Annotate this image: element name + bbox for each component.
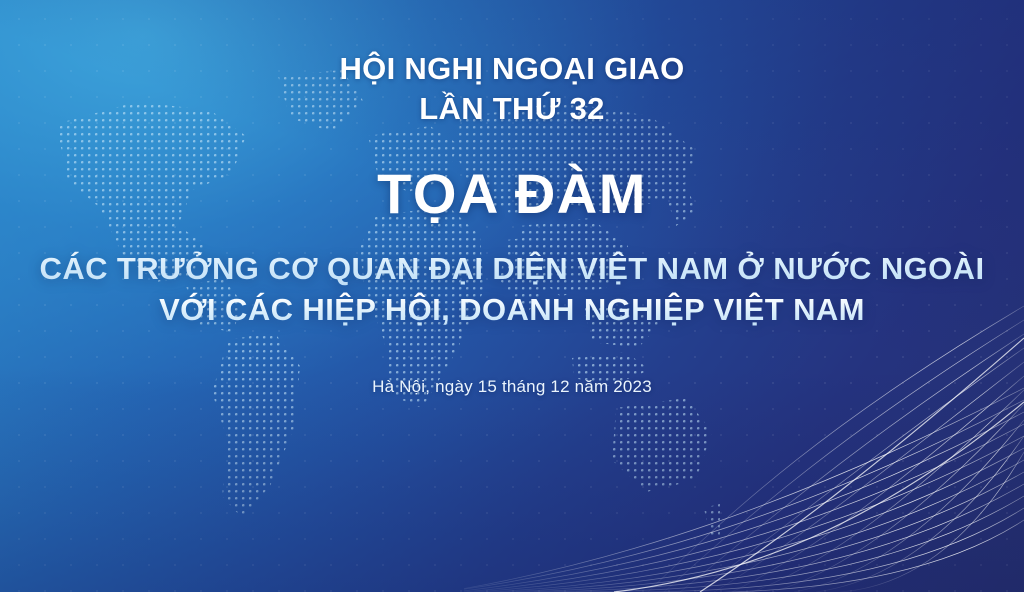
subtitle-line-1: CÁC TRƯỞNG CƠ QUAN ĐẠI DIỆN VIỆT NAM Ở N… (0, 224, 1024, 289)
event-date-location: Hà Nội, ngày 15 tháng 12 năm 2023 (0, 330, 1024, 398)
event-series-line-2: LẦN THỨ 32 (0, 88, 1024, 128)
banner-text-block: HỘI NGHỊ NGOẠI GIAO LẦN THỨ 32 TỌA ĐÀM C… (0, 0, 1024, 398)
conference-banner: HỘI NGHỊ NGOẠI GIAO LẦN THỨ 32 TỌA ĐÀM C… (0, 0, 1024, 592)
page-title: TỌA ĐÀM (0, 128, 1024, 224)
event-series-line-1: HỘI NGHỊ NGOẠI GIAO (0, 0, 1024, 88)
subtitle-line-2: VỚI CÁC HIỆP HỘI, DOANH NGHIỆP VIỆT NAM (0, 289, 1024, 330)
